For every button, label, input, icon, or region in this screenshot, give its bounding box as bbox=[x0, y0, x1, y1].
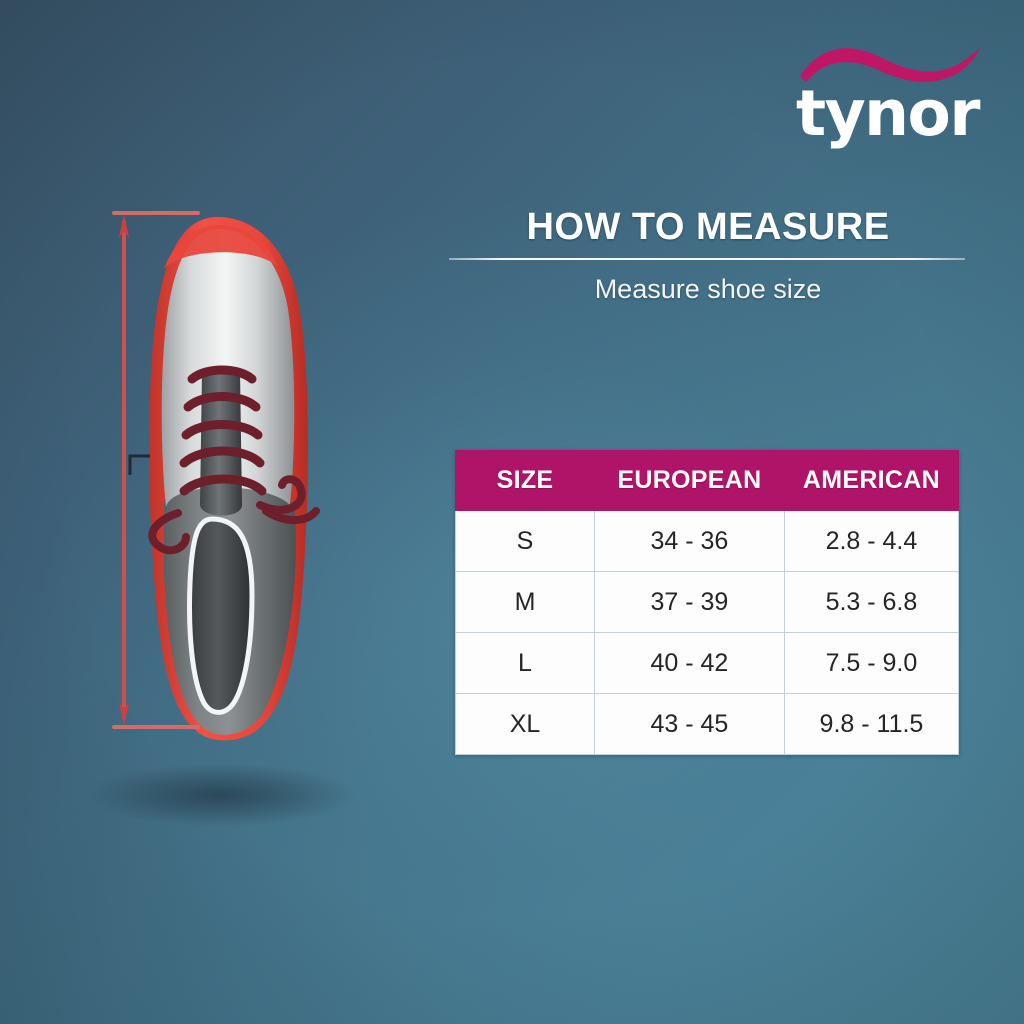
size-chart-table: SIZE EUROPEAN AMERICAN S 34 - 36 2.8 - 4… bbox=[455, 450, 959, 755]
size-chart-page: tynor HOW TO MEASURE Measure shoe size bbox=[0, 0, 1024, 1024]
cell-american: 7.5 - 9.0 bbox=[784, 633, 958, 694]
cell-european: 37 - 39 bbox=[594, 572, 784, 633]
column-header-american: AMERICAN bbox=[784, 451, 958, 511]
cell-european: 40 - 42 bbox=[594, 633, 784, 694]
cell-size: M bbox=[456, 572, 595, 633]
cell-size: S bbox=[456, 511, 595, 572]
table-header-row: SIZE EUROPEAN AMERICAN bbox=[456, 451, 959, 511]
brand-logo: tynor bbox=[790, 38, 990, 138]
table-row: XL 43 - 45 9.8 - 11.5 bbox=[456, 694, 959, 755]
cell-european: 43 - 45 bbox=[594, 694, 784, 755]
cell-european: 34 - 36 bbox=[594, 511, 784, 572]
column-header-european: EUROPEAN bbox=[594, 451, 784, 511]
shoe-length-measure-arrow bbox=[90, 195, 200, 755]
table-row: L 40 - 42 7.5 - 9.0 bbox=[456, 633, 959, 694]
cell-american: 2.8 - 4.4 bbox=[784, 511, 958, 572]
title-divider bbox=[449, 258, 965, 260]
table-row: M 37 - 39 5.3 - 6.8 bbox=[456, 572, 959, 633]
brand-wordmark: tynor bbox=[796, 82, 979, 145]
cell-american: 5.3 - 6.8 bbox=[784, 572, 958, 633]
shoe-shadow bbox=[85, 763, 355, 827]
column-header-size: SIZE bbox=[456, 451, 595, 511]
shoe-tongue bbox=[200, 367, 242, 516]
cell-size: L bbox=[456, 633, 595, 694]
page-subtitle: Measure shoe size bbox=[448, 274, 968, 305]
table-row: S 34 - 36 2.8 - 4.4 bbox=[456, 511, 959, 572]
page-title: HOW TO MEASURE bbox=[448, 206, 968, 249]
cell-american: 9.8 - 11.5 bbox=[784, 694, 958, 755]
cell-size: XL bbox=[456, 694, 595, 755]
